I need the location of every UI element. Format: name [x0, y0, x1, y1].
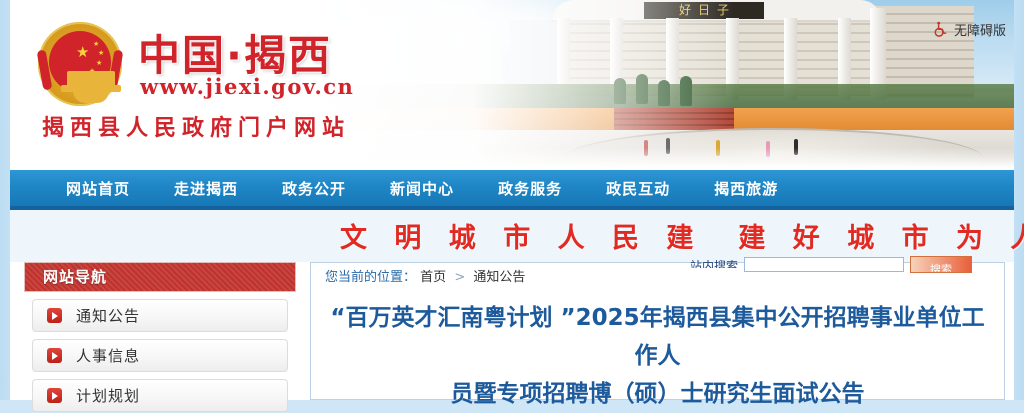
main-navigation: 网站首页 走进揭西 政务公开 新闻中心 政务服务 政民互动 揭西旅游 — [10, 170, 1014, 206]
play-square-icon — [47, 308, 62, 323]
emblem-star: ★ — [98, 50, 104, 57]
article-title-line-2: 员暨专项招聘博（硕）士研究生面试公告 — [327, 375, 988, 413]
nav-item-about[interactable]: 走进揭西 — [152, 178, 260, 199]
breadcrumb-separator: > — [450, 270, 469, 285]
emblem-disc: ★ ★ ★ ★ ★ — [49, 31, 111, 93]
accessibility-label: 无障碍版 — [954, 20, 1006, 39]
banner-fade-bottom — [314, 148, 1014, 170]
banner-fade-overlay — [314, 0, 734, 170]
nav-item-tourism[interactable]: 揭西旅游 — [692, 178, 800, 199]
civility-slogan: 文 明 城 市 人 民 建 建 好 城 市 为 人 民 — [340, 216, 1000, 255]
search-input[interactable] — [744, 257, 904, 272]
article-panel: 您当前的位置： 首页 > 通知公告 “百万英才汇南粤计划 ”2025年揭西县集中… — [310, 262, 1005, 400]
content-area: 网站导航 通知公告 人事信息 计划规划 您当前的位置： 首页 > 通知公告 — [10, 262, 1014, 400]
emblem-star: ★ — [96, 60, 102, 67]
search-button[interactable]: 搜索 — [910, 256, 972, 273]
sidebar-item-personnel[interactable]: 人事信息 — [32, 339, 288, 372]
page-root: 好日子 — [0, 0, 1024, 400]
search-label: 站内搜索 — [690, 260, 738, 268]
sidebar-heading: 网站导航 — [24, 262, 296, 292]
nav-item-news[interactable]: 新闻中心 — [368, 178, 476, 199]
site-url: www.jiexi.gov.cn — [140, 74, 354, 99]
emblem-cog — [73, 91, 109, 103]
banner-photo: 好日子 — [314, 0, 1014, 170]
sidebar-item-label: 计划规划 — [76, 385, 140, 406]
accessibility-link[interactable]: 无障碍版 — [932, 18, 1006, 40]
sidebar-item-planning[interactable]: 计划规划 — [32, 379, 288, 412]
sidebar-navigation: 网站导航 通知公告 人事信息 计划规划 — [24, 262, 296, 412]
emblem-star: ★ — [93, 41, 99, 48]
breadcrumb-label: 您当前的位置： — [325, 270, 416, 285]
wheelchair-icon — [932, 21, 949, 38]
nav-item-services[interactable]: 政务服务 — [476, 178, 584, 199]
site-header: 好日子 — [10, 0, 1014, 170]
site-search: 站内搜索 搜索 — [690, 255, 972, 273]
play-square-icon — [47, 388, 62, 403]
sidebar-item-label: 通知公告 — [76, 305, 140, 326]
nav-item-home[interactable]: 网站首页 — [44, 178, 152, 199]
breadcrumb-home[interactable]: 首页 — [420, 270, 446, 285]
site-logo[interactable]: ★ ★ ★ ★ ★ 中国·揭西 www.jiexi.gov.cn 揭西县人民政府… — [30, 18, 350, 153]
sidebar-item-notices[interactable]: 通知公告 — [32, 299, 288, 332]
nav-item-interaction[interactable]: 政民互动 — [584, 178, 692, 199]
breadcrumb-current[interactable]: 通知公告 — [473, 270, 525, 285]
emblem-star: ★ — [76, 45, 89, 60]
national-emblem-icon: ★ ★ ★ ★ ★ — [38, 22, 122, 106]
sidebar-item-label: 人事信息 — [76, 345, 140, 366]
play-square-icon — [47, 348, 62, 363]
site-subtitle: 揭西县人民政府门户网站 — [42, 110, 350, 142]
article-title: “百万英才汇南粤计划 ”2025年揭西县集中公开招聘事业单位工作人 员暨专项招聘… — [311, 299, 1004, 413]
nav-item-open-affairs[interactable]: 政务公开 — [260, 178, 368, 199]
article-title-line-1: “百万英才汇南粤计划 ”2025年揭西县集中公开招聘事业单位工作人 — [327, 299, 988, 375]
